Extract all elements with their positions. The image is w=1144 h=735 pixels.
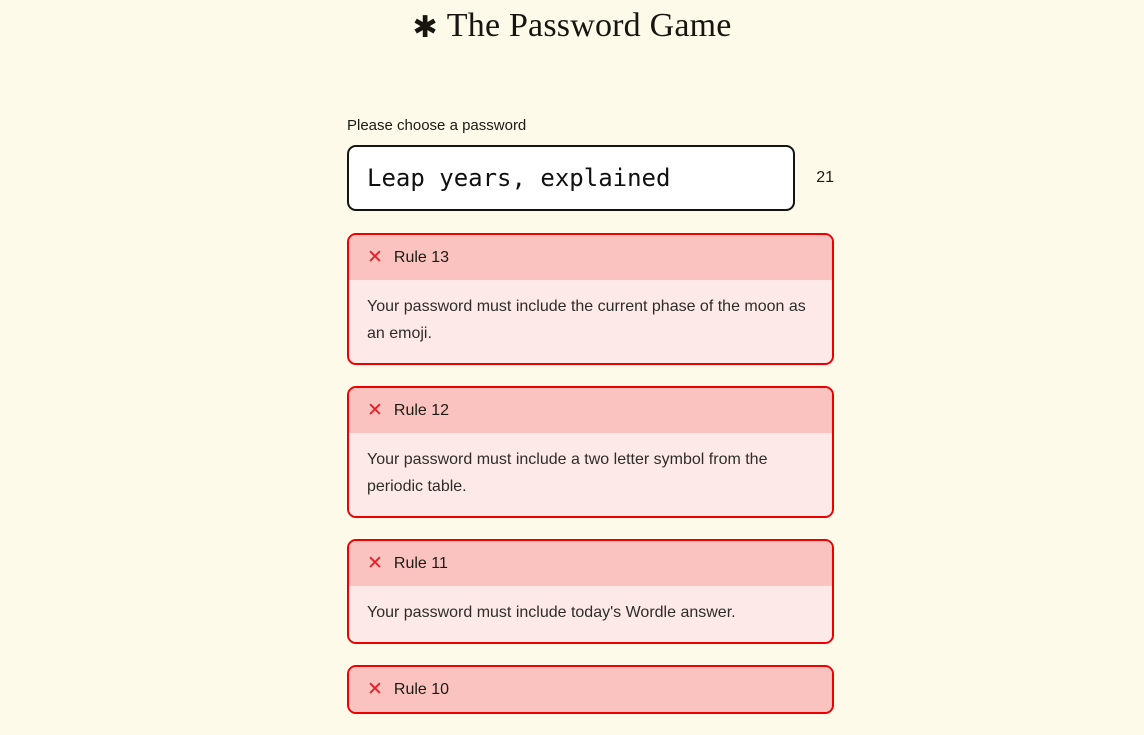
password-label: Please choose a password	[347, 116, 834, 136]
character-count: 21	[816, 169, 834, 187]
password-input[interactable]	[347, 145, 795, 211]
rule-header: ✕Rule 13	[349, 235, 832, 280]
rule-title: Rule 13	[394, 249, 449, 267]
rules-list: ✕Rule 13Your password must include the c…	[347, 233, 834, 714]
rule-header: ✕Rule 12	[349, 388, 832, 433]
rule-header: ✕Rule 10	[349, 667, 832, 712]
main-column: Please choose a password 21 ✕Rule 13Your…	[347, 116, 834, 735]
asterisk-icon: ✱	[412, 10, 437, 45]
rule-card: ✕Rule 10	[347, 665, 834, 714]
rule-title: Rule 11	[394, 555, 448, 573]
rule-title: Rule 10	[394, 681, 449, 699]
rule-card: ✕Rule 13Your password must include the c…	[347, 233, 834, 365]
password-input-row: 21	[347, 145, 834, 211]
x-icon: ✕	[367, 554, 383, 573]
x-icon: ✕	[367, 401, 383, 420]
rule-card: ✕Rule 11Your password must include today…	[347, 539, 834, 644]
page-title-text: The Password Game	[447, 7, 732, 44]
rule-title: Rule 12	[394, 402, 449, 420]
x-icon: ✕	[367, 248, 383, 267]
rule-text: Your password must include today's Wordl…	[349, 586, 832, 642]
x-icon: ✕	[367, 680, 383, 699]
rule-text: Your password must include the current p…	[349, 280, 832, 363]
rule-text: Your password must include a two letter …	[349, 433, 832, 516]
rule-card: ✕Rule 12Your password must include a two…	[347, 386, 834, 518]
page-header: ✱The Password Game	[0, 0, 1144, 45]
page-title: ✱The Password Game	[412, 7, 731, 45]
rule-header: ✕Rule 11	[349, 541, 832, 586]
